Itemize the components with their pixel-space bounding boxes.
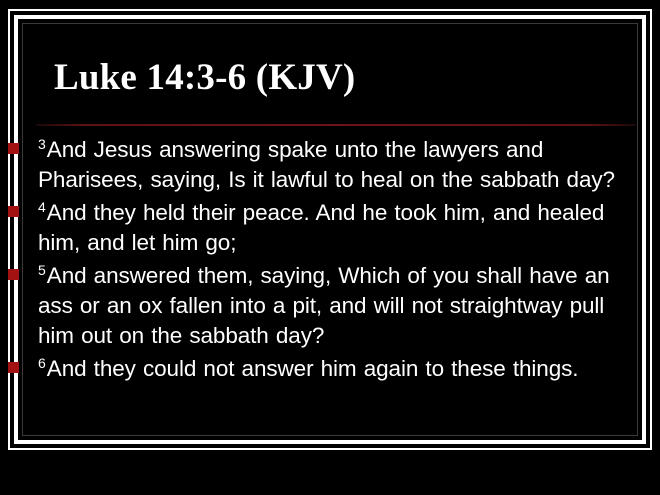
verse-body: 5And answered them, saying, Which of you… [38, 261, 646, 351]
verse-text: And they could not answer him again to t… [47, 356, 579, 381]
verse-body: 4And they held their peace. And he took … [38, 198, 646, 258]
slide-content: Luke 14:3-6 (KJV) 3And Jesus answering s… [24, 25, 636, 434]
verse-number: 3 [38, 136, 47, 152]
verse-body: 6And they could not answer him again to … [38, 354, 646, 384]
verse-number: 6 [38, 355, 47, 371]
list-item: 4And they held their peace. And he took … [24, 198, 646, 258]
bullet-square-icon [8, 143, 19, 154]
presentation-slide: Luke 14:3-6 (KJV) 3And Jesus answering s… [0, 0, 660, 495]
list-item: 3And Jesus answering spake unto the lawy… [24, 135, 646, 195]
verse-number: 5 [38, 262, 47, 278]
verse-text: And Jesus answering spake unto the lawye… [38, 137, 615, 192]
verse-body: 3And Jesus answering spake unto the lawy… [38, 135, 646, 195]
bullet-square-icon [8, 269, 19, 280]
verse-text: And answered them, saying, Which of you … [38, 263, 610, 348]
verse-number: 4 [38, 199, 47, 215]
title-divider [36, 124, 636, 126]
page-title: Luke 14:3-6 (KJV) [24, 25, 636, 100]
bullet-square-icon [8, 206, 19, 217]
list-item: 5And answered them, saying, Which of you… [24, 261, 646, 351]
bullet-square-icon [8, 362, 19, 373]
list-item: 6And they could not answer him again to … [24, 354, 646, 384]
verse-text: And they held their peace. And he took h… [38, 200, 604, 255]
verse-list: 3And Jesus answering spake unto the lawy… [24, 135, 646, 387]
title-block: Luke 14:3-6 (KJV) [24, 25, 636, 100]
